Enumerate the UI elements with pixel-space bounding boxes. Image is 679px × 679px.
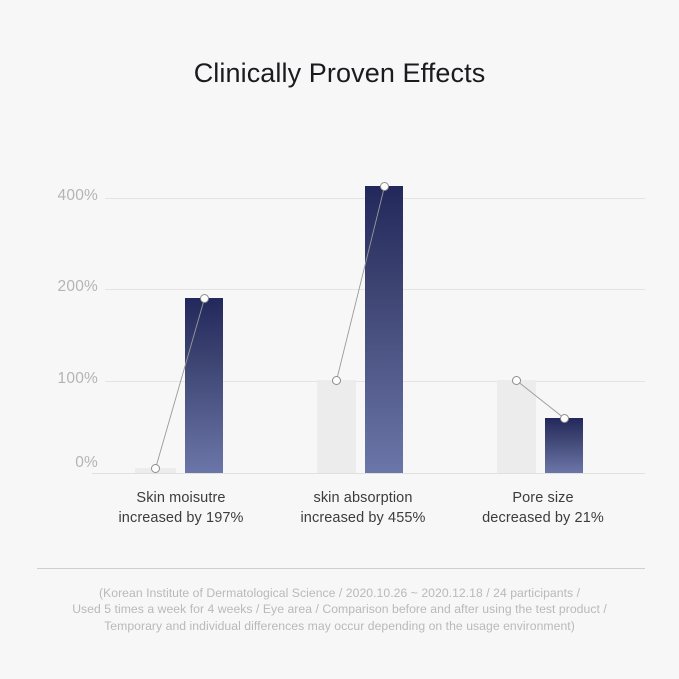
footnote-line-1: (Korean Institute of Dermatological Scie…	[0, 585, 679, 601]
footer-divider	[37, 568, 645, 569]
marker-before-skin-absorption	[332, 376, 341, 385]
bar-after-pore-size	[545, 418, 583, 473]
category-label-skin-moisture: Skin moisutre increased by 197%	[85, 488, 277, 528]
category-label-line2: increased by 197%	[85, 508, 277, 528]
marker-after-skin-moisture	[200, 294, 209, 303]
category-label-line1: Pore size	[447, 488, 639, 508]
footnote-line-2: Used 5 times a week for 4 weeks / Eye ar…	[0, 601, 679, 617]
bar-group-pore-size	[0, 0, 679, 679]
infographic-root: Clinically Proven Effects 400% 200% 100%…	[0, 0, 679, 679]
category-label-line2: increased by 455%	[267, 508, 459, 528]
marker-after-skin-absorption	[380, 182, 389, 191]
category-label-line2: decreased by 21%	[447, 508, 639, 528]
category-label-skin-absorption: skin absorption increased by 455%	[267, 488, 459, 528]
marker-after-pore-size	[560, 414, 569, 423]
category-label-line1: Skin moisutre	[85, 488, 277, 508]
category-label-line1: skin absorption	[267, 488, 459, 508]
marker-before-skin-moisture	[151, 464, 160, 473]
bar-before-pore-size	[497, 380, 536, 473]
marker-before-pore-size	[512, 376, 521, 385]
footnote-line-3: Temporary and individual differences may…	[0, 618, 679, 634]
chart-plot-area: 400% 200% 100% 0%	[0, 0, 679, 679]
category-label-pore-size: Pore size decreased by 21%	[447, 488, 639, 528]
footnote-block: (Korean Institute of Dermatological Scie…	[0, 585, 679, 634]
